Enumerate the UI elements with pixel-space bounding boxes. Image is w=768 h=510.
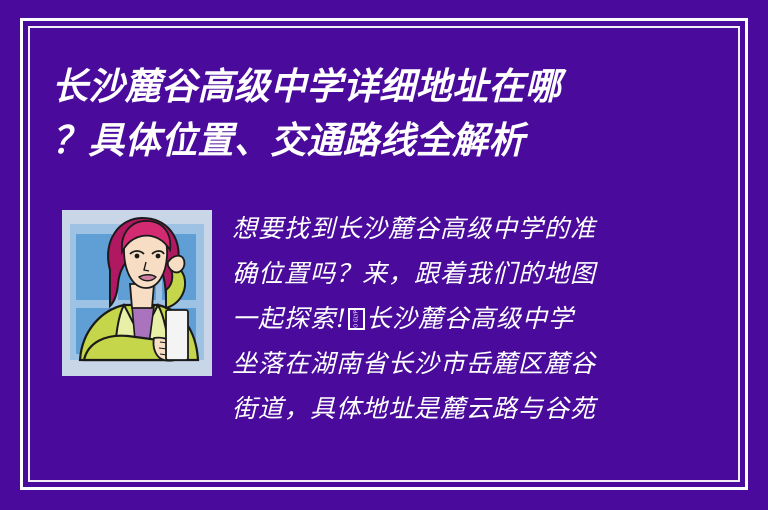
missing-glyph-box: NO GLYPH: [348, 308, 365, 330]
illustration-artwork: [62, 210, 212, 376]
body-line-2: 确位置吗？来，跟着我们的地图: [232, 251, 652, 296]
illustration-woman-with-cup: [62, 210, 212, 376]
poster-canvas: 长沙麓谷高级中学详细地址在哪 ？具体位置、交通路线全解析: [0, 0, 768, 510]
body-line-3: 一起探索!NO GLYPH长沙麓谷高级中学: [232, 296, 652, 341]
body-line-3-after: 长沙麓谷高级中学: [366, 304, 574, 333]
headline-line-1: 长沙麓谷高级中学详细地址在哪: [52, 60, 692, 114]
headline-line-2: ？具体位置、交通路线全解析: [52, 114, 692, 168]
body-copy-block: 想要找到长沙麓谷高级中学的准 确位置吗？来，跟着我们的地图 一起探索!NO GL…: [232, 206, 652, 431]
body-line-4: 坐落在湖南省长沙市岳麓区麓谷: [232, 341, 652, 386]
headline-block: 长沙麓谷高级中学详细地址在哪 ？具体位置、交通路线全解析: [52, 60, 712, 168]
body-line-5: 街道，具体地址是麓云路与谷苑: [232, 386, 652, 431]
body-line-1: 想要找到长沙麓谷高级中学的准: [232, 206, 652, 251]
body-line-3-before: 一起探索!: [232, 304, 347, 333]
missing-glyph-label: NO GLYPH: [354, 308, 359, 330]
